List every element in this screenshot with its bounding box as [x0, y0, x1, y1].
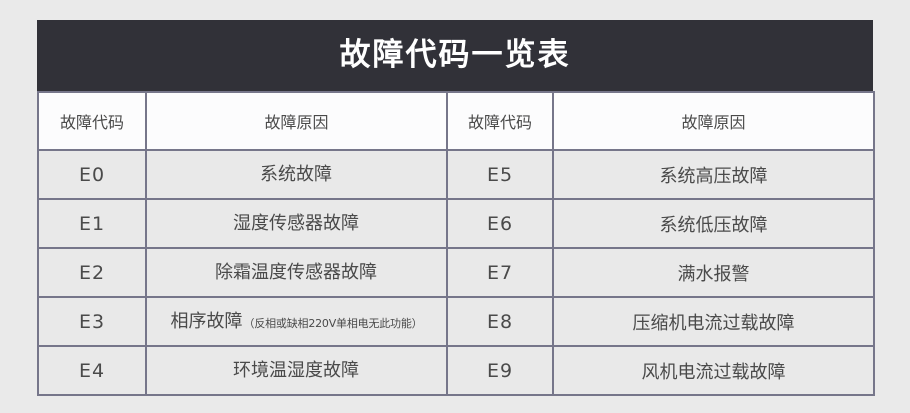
- fault-code-cell: E4: [38, 346, 146, 395]
- fault-cause-note: （反相或缺相220V单相电无此功能）: [244, 318, 423, 329]
- fault-cause-text: 系统故障: [260, 166, 332, 184]
- column-header-fault-code-right: 故障代码: [447, 92, 553, 150]
- fault-code-table: 故障代码 故障原因 故障代码 故障原因 E0 系统故障 E5 系统高压故障: [37, 91, 875, 396]
- page-title: 故障代码一览表: [340, 40, 571, 71]
- fault-cause-text: 除霜温度传感器故障: [215, 264, 377, 282]
- fault-code-cell: E6: [447, 199, 553, 248]
- column-header-fault-code-left: 故障代码: [38, 92, 146, 150]
- fault-code-cell: E5: [447, 150, 553, 199]
- column-header-fault-cause-left: 故障原因: [146, 92, 447, 150]
- fault-cause-cell: 系统低压故障: [553, 199, 874, 248]
- table-header-row: 故障代码 故障原因 故障代码 故障原因: [38, 92, 874, 150]
- fault-code-cell: E9: [447, 346, 553, 395]
- fault-cause-cell: 满水报警: [553, 248, 874, 297]
- table-row: E0 系统故障 E5 系统高压故障: [38, 150, 874, 199]
- table-title-band: 故障代码一览表: [37, 20, 873, 91]
- fault-cause-cell: 湿度传感器故障: [146, 199, 447, 248]
- fault-cause-cell: 环境温湿度故障: [146, 346, 447, 395]
- fault-cause-text: 湿度传感器故障: [233, 215, 359, 233]
- fault-code-cell: E3: [38, 297, 146, 346]
- fault-cause-text: 环境温湿度故障: [233, 362, 359, 380]
- fault-cause-cell: 相序故障 （反相或缺相220V单相电无此功能）: [146, 297, 447, 346]
- fault-cause-text: 相序故障: [171, 313, 243, 331]
- table-row: E3 相序故障 （反相或缺相220V单相电无此功能） E8 压缩机电流过载故障: [38, 297, 874, 346]
- table-row: E1 湿度传感器故障 E6 系统低压故障: [38, 199, 874, 248]
- fault-cause-cell: 风机电流过载故障: [553, 346, 874, 395]
- fault-cause-cell: 系统故障: [146, 150, 447, 199]
- fault-code-cell: E7: [447, 248, 553, 297]
- fault-cause-cell: 系统高压故障: [553, 150, 874, 199]
- column-header-fault-cause-right: 故障原因: [553, 92, 874, 150]
- fault-code-cell: E8: [447, 297, 553, 346]
- page-root: 故障代码一览表 故障代码 故障原因 故障代码 故障原因 E0: [0, 0, 910, 413]
- table-row: E4 环境温湿度故障 E9 风机电流过载故障: [38, 346, 874, 395]
- fault-code-cell: E2: [38, 248, 146, 297]
- fault-cause-cell: 除霜温度传感器故障: [146, 248, 447, 297]
- fault-cause-cell: 压缩机电流过载故障: [553, 297, 874, 346]
- fault-code-cell: E1: [38, 199, 146, 248]
- fault-code-cell: E0: [38, 150, 146, 199]
- fault-code-table-card: 故障代码一览表 故障代码 故障原因 故障代码 故障原因 E0: [37, 20, 873, 396]
- table-row: E2 除霜温度传感器故障 E7 满水报警: [38, 248, 874, 297]
